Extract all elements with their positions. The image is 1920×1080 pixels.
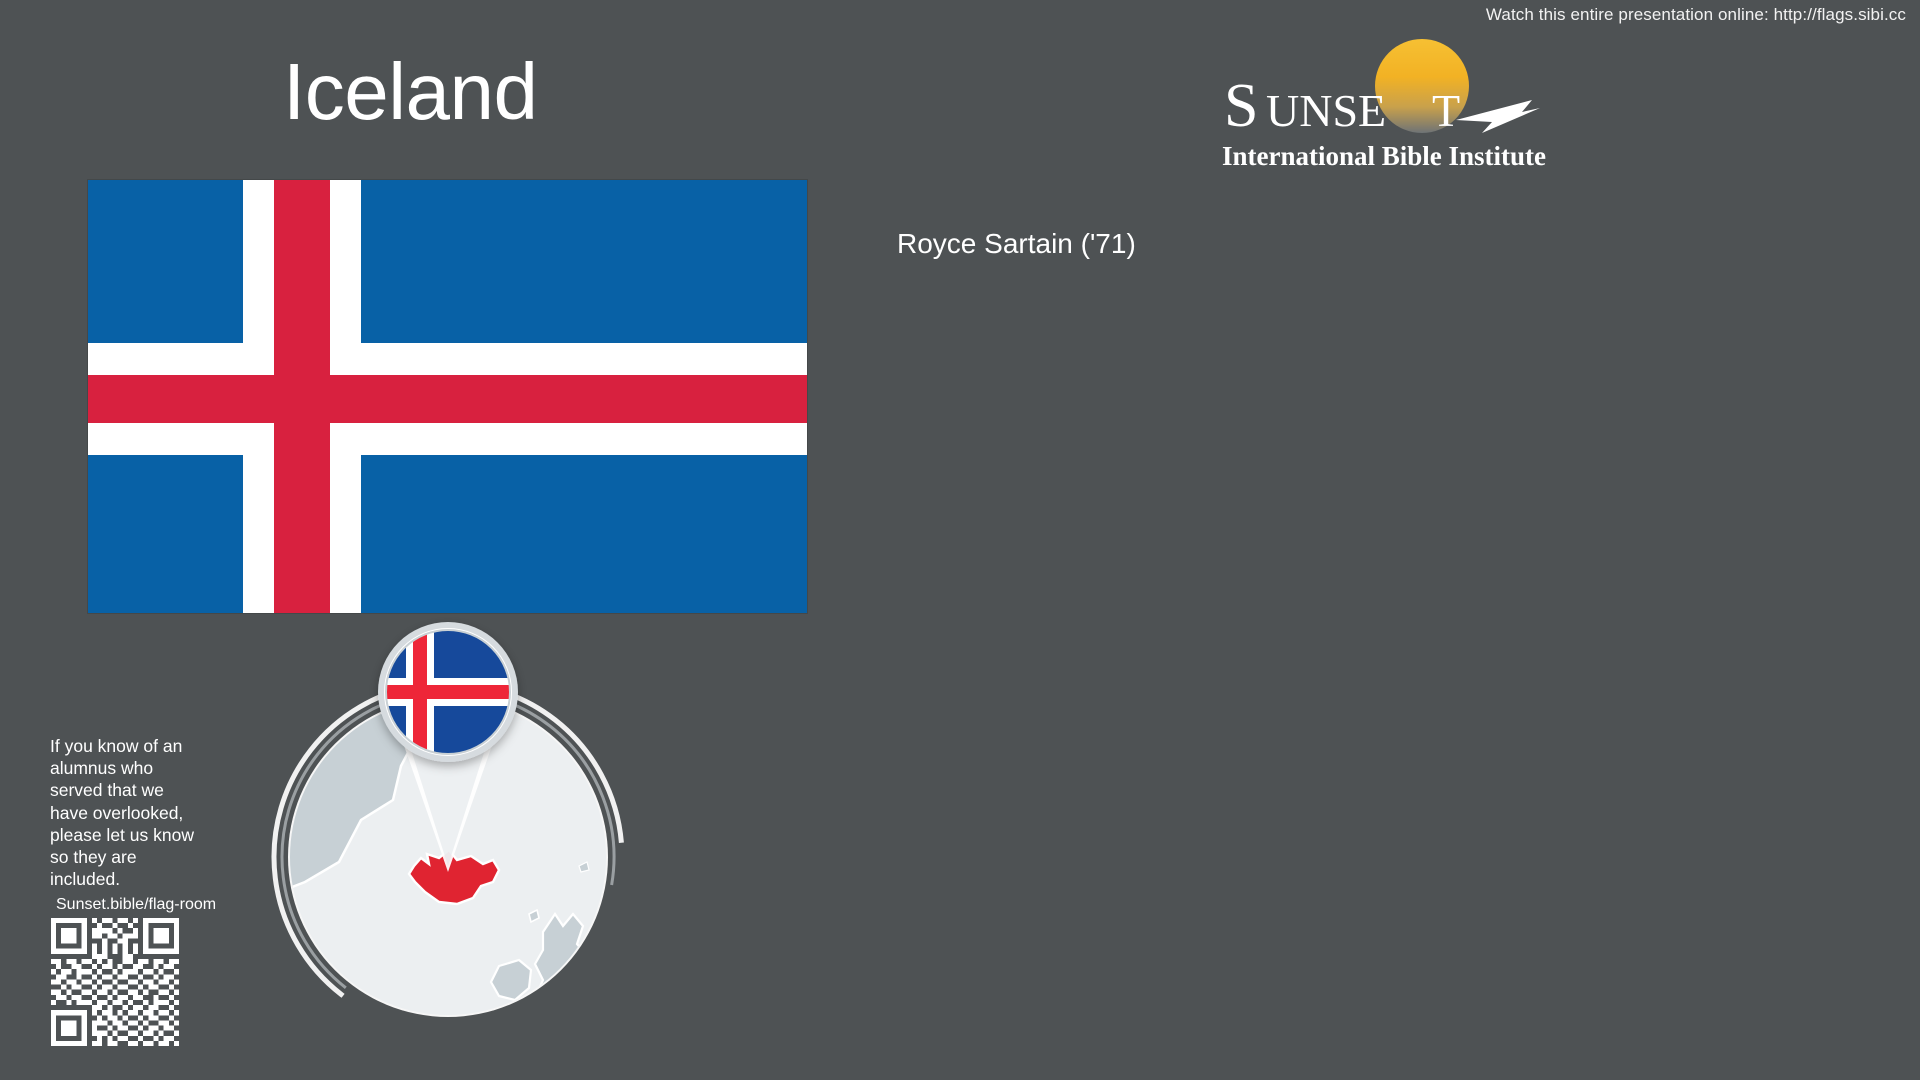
flag-iceland (88, 180, 807, 613)
sunset-logo: S UNSE T International Bible Institute (1200, 38, 1580, 183)
alumnus-name: Royce Sartain ('71) (897, 228, 1136, 260)
flag-red-horizontal-band (88, 375, 807, 423)
locator-map-iceland (243, 614, 653, 1076)
logo-wordmark-t: T (1432, 85, 1460, 136)
logo-wordmark-unset: UNSE (1266, 85, 1386, 136)
flag-room-url[interactable]: Sunset.bible/flag-room (56, 896, 216, 914)
alumnus-request-text: If you know of an alumnus who served tha… (50, 735, 202, 890)
qr-code-flag-room[interactable] (51, 918, 179, 1046)
presentation-url-note: Watch this entire presentation online: h… (1486, 5, 1906, 25)
landmass-scandinavia (609, 820, 653, 914)
map-pin-iceland-flag (378, 622, 518, 762)
swoosh-icon (1456, 100, 1540, 133)
logo-subtitle: International Bible Institute (1222, 141, 1546, 171)
page-title: Iceland (283, 52, 537, 132)
logo-wordmark-s: S (1224, 72, 1258, 140)
